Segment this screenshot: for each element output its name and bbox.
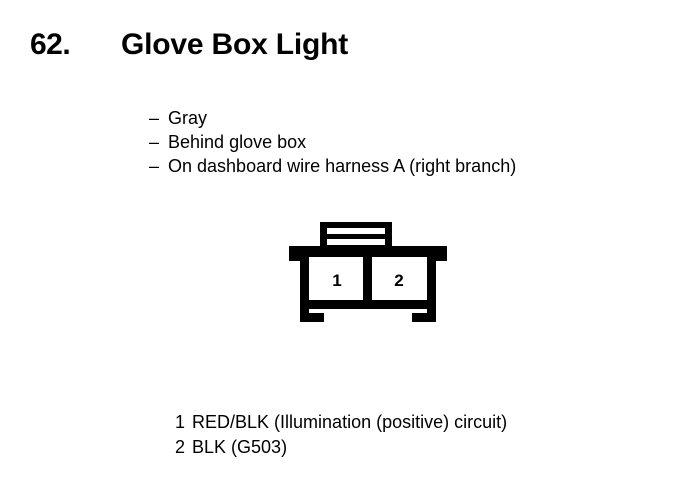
pin-number: 2 (175, 435, 192, 460)
pin-legend: 1RED/BLK (Illumination (positive) circui… (145, 385, 645, 435)
dash-icon: – (149, 154, 168, 178)
pin-description: RED/BLK (Illumination (positive) circuit… (192, 412, 507, 432)
connector-left-wall (289, 246, 324, 322)
list-item: –Behind glove box (119, 106, 659, 130)
connector-diagram: 1 2 (286, 218, 450, 330)
list-item: –Gray (119, 82, 659, 106)
pin-description: BLK (G503) (192, 437, 287, 457)
connector-illustration: 1 2 (286, 218, 450, 330)
page-heading: 62. Glove Box Light (30, 26, 650, 70)
page-title: Glove Box Light (121, 26, 348, 64)
connector-attribute-list: –Gray –Behind glove box –On dashboard wi… (119, 82, 659, 154)
attribute-text: On dashboard wire harness A (right branc… (168, 156, 516, 176)
cavity-divider (363, 255, 372, 305)
cavity-label-1: 1 (332, 271, 341, 290)
heading-number: 62. (30, 26, 70, 64)
diagram-page: 62. Glove Box Light –Gray –Behind glove … (0, 0, 688, 500)
latch-tab-icon (320, 222, 392, 250)
cavity-label-2: 2 (394, 271, 403, 290)
pin-number: 1 (175, 410, 192, 435)
pin-legend-row: 1RED/BLK (Illumination (positive) circui… (145, 385, 645, 410)
connector-right-wall (412, 246, 447, 322)
list-item: –On dashboard wire harness A (right bran… (119, 130, 659, 154)
